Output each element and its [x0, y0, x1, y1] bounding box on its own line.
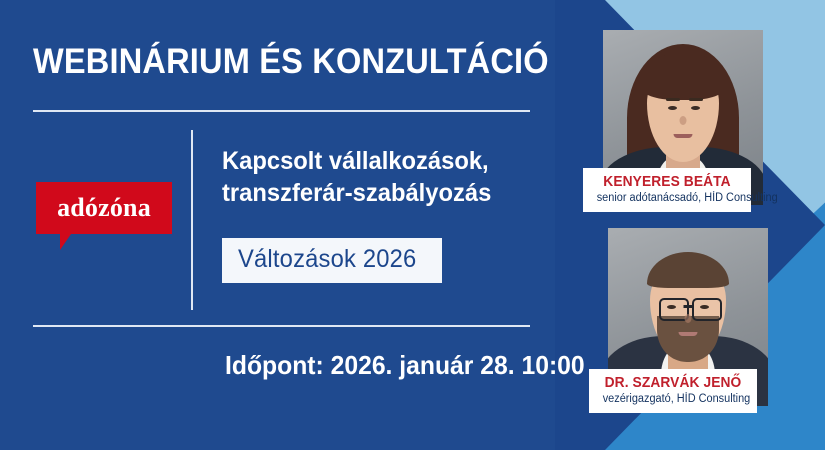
- status-badge: Változások 2026: [222, 238, 442, 283]
- logo-label: adózóna: [57, 195, 151, 221]
- eye-left: [668, 106, 677, 110]
- speaker-2-nameplate: DR. SZARVÁK JENŐ vezérigazgató, HÍD Cons…: [589, 369, 757, 413]
- eyeglasses-right-lens-icon: [692, 298, 722, 321]
- logo-speech-bubble: adózóna: [36, 182, 172, 234]
- webinar-promo-banner: WEBINÁRIUM ÉS KONZULTÁCIÓ adózóna Kapcso…: [0, 0, 825, 450]
- eyebrow-right: [689, 98, 703, 101]
- eyebrow-left: [666, 98, 680, 101]
- speaker-1-role: senior adótanácsadó, HÍD Consulting: [597, 192, 738, 206]
- page-title: WEBINÁRIUM ÉS KONZULTÁCIÓ: [33, 42, 549, 82]
- badge-label: Változások 2026: [238, 245, 416, 274]
- hair-shape: [647, 252, 729, 288]
- speaker-2-name: DR. SZARVÁK JENŐ: [603, 375, 744, 392]
- eye-right: [691, 106, 700, 110]
- divider-vertical: [191, 130, 193, 310]
- eye-left: [667, 305, 676, 309]
- logo-bubble-tail-icon: [60, 234, 71, 250]
- subtitle-block: Kapcsolt vállalkozások, transzferár-szab…: [222, 145, 536, 209]
- event-datetime: Időpont: 2026. január 28. 10:00: [225, 350, 585, 381]
- nose-shape: [680, 116, 687, 125]
- mouth-shape: [674, 134, 693, 138]
- nose-shape: [685, 314, 692, 323]
- speaker-1-name: KENYERES BEÁTA: [597, 174, 738, 191]
- adozona-logo[interactable]: adózóna: [36, 182, 172, 234]
- eyeglasses-bridge-icon: [684, 305, 693, 308]
- eye-right: [700, 305, 709, 309]
- divider-top: [33, 110, 530, 112]
- subtitle-line-1: Kapcsolt vállalkozások,: [222, 145, 536, 177]
- speaker-2-role: vezérigazgató, HÍD Consulting: [603, 393, 744, 407]
- mouth-shape: [679, 332, 698, 336]
- speaker-1-nameplate: KENYERES BEÁTA senior adótanácsadó, HÍD …: [583, 168, 751, 212]
- divider-bottom: [33, 325, 530, 327]
- subtitle-line-2: transzferár-szabályozás: [222, 177, 536, 209]
